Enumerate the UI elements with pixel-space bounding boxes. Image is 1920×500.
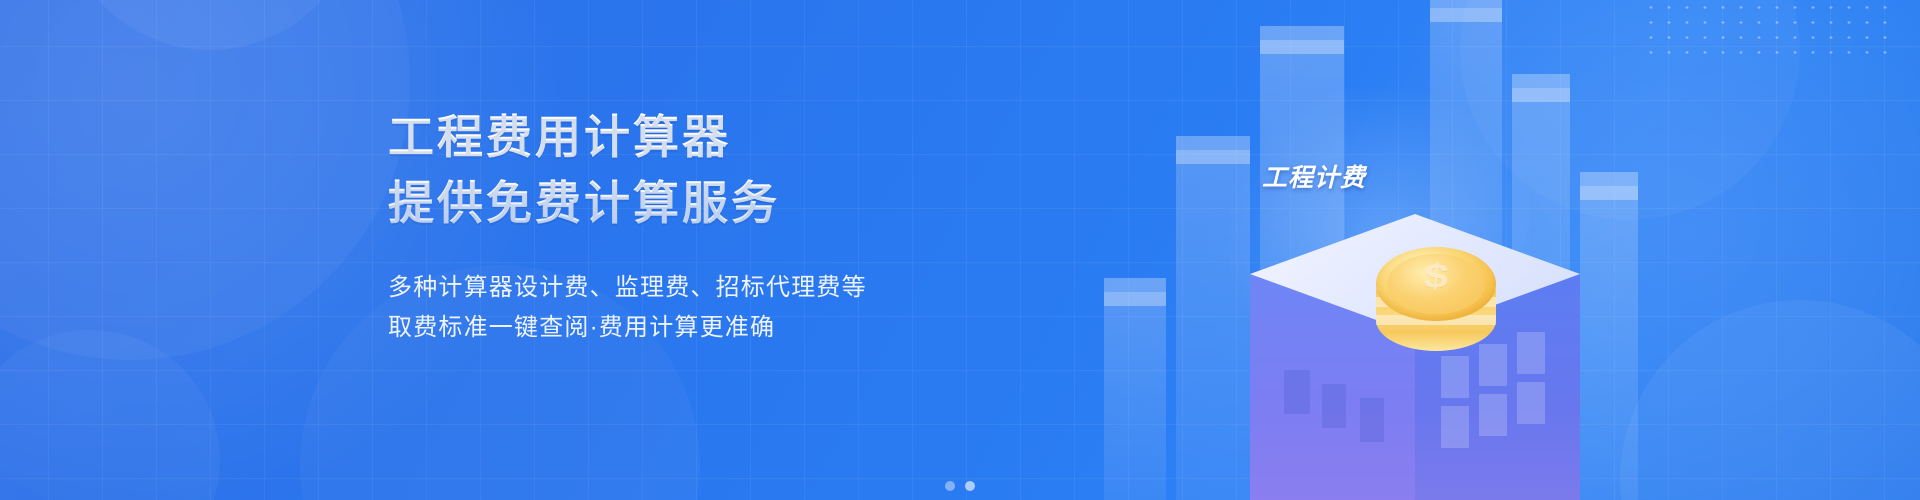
headline-line-2: 提供免费计算服务 <box>388 174 1028 232</box>
hero-illustration: $ <box>1080 0 1640 500</box>
hero-subtitle: 多种计算器设计费、监理费、招标代理费等 取费标准一键查阅·费用计算更准确 <box>388 268 1028 348</box>
dollar-sign-icon: $ <box>1374 260 1497 294</box>
headline-line-1: 工程费用计算器 <box>388 108 1028 166</box>
page-title: 工程费用计算器 提供免费计算服务 <box>388 108 1028 232</box>
hero-banner: $ 工程计费 工程费用计算器 提供免费计算服务 多种计算器设计费、监理费、招标代… <box>0 0 1920 500</box>
carousel-dot-2[interactable] <box>965 481 975 491</box>
skyline-bar-1 <box>1104 292 1166 500</box>
isometric-building-icon: $ <box>1250 214 1580 500</box>
hero-copy-block: 工程费用计算器 提供免费计算服务 多种计算器设计费、监理费、招标代理费等 取费标… <box>388 108 1028 348</box>
carousel-indicator[interactable] <box>0 481 1920 491</box>
carousel-dot-1[interactable] <box>945 481 955 491</box>
skyline-bar-6 <box>1580 186 1638 500</box>
subtitle-line-2: 取费标准一键查阅·费用计算更准确 <box>388 308 1028 348</box>
coin-face: $ <box>1376 247 1496 321</box>
dot-matrix-decoration <box>1642 0 1892 62</box>
illustration-badge-label: 工程计费 <box>1262 158 1366 194</box>
subtitle-line-1: 多种计算器设计费、监理费、招标代理费等 <box>388 268 1028 308</box>
gold-coin-icon: $ <box>1376 247 1496 351</box>
